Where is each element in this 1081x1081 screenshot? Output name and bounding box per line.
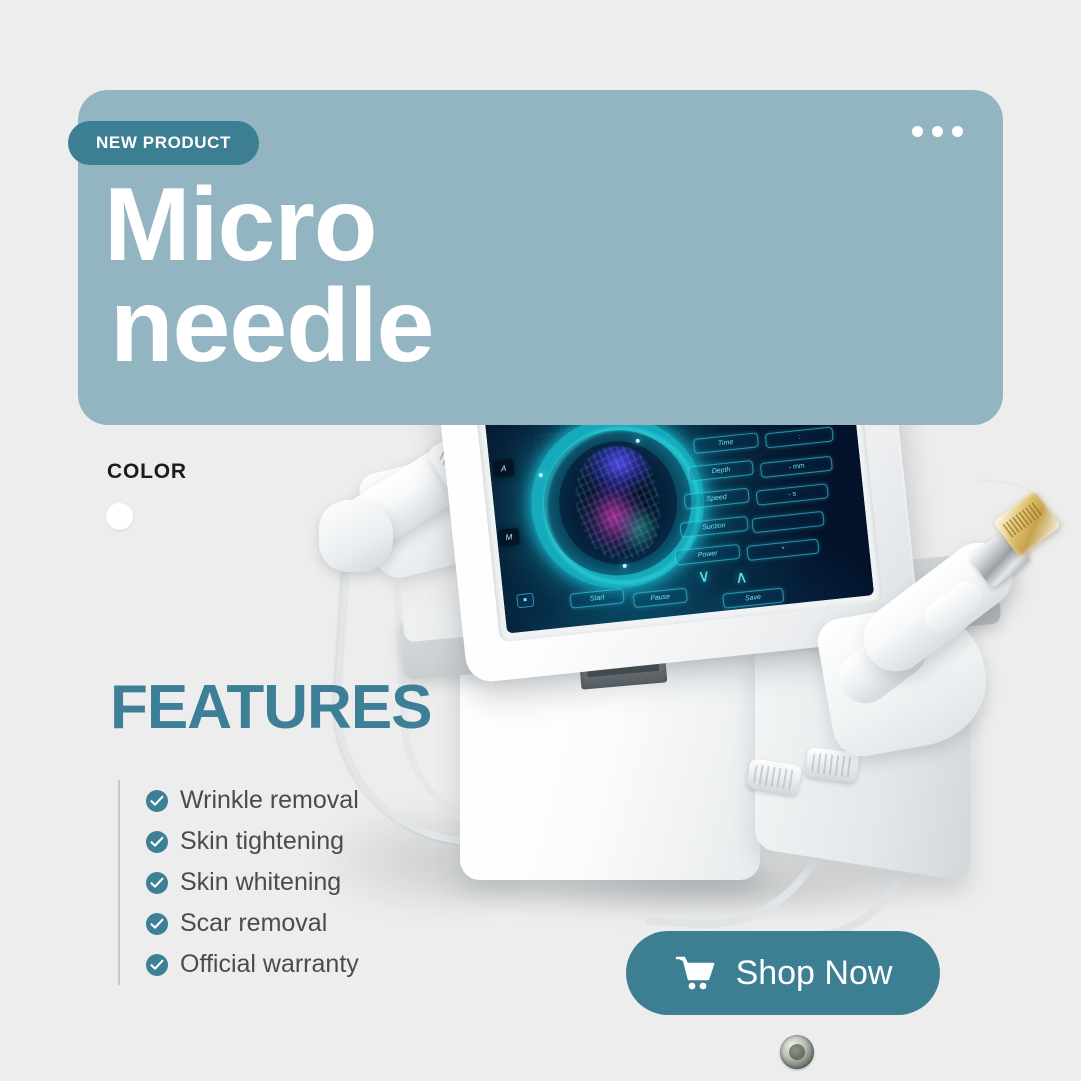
feature-label: Skin tightening [180,827,344,856]
check-circle-icon [146,872,168,894]
list-item: Wrinkle removal [146,780,359,821]
param-speed-number: - [788,491,791,498]
param-speed-unit: s [792,490,796,497]
list-item: Skin tightening [146,821,359,862]
param-label-speed[interactable]: Speed [684,488,750,510]
feature-label: Skin whitening [180,868,341,897]
param-label-depth[interactable]: Depth [688,460,754,482]
more-horizontal-icon[interactable] [912,126,963,137]
param-value-depth[interactable]: - mm [760,455,833,477]
pause-button[interactable]: Pause [633,587,688,608]
param-label-suction[interactable]: Suction [679,515,749,537]
page-title-line-2: needle [110,276,864,377]
sidebar-item-a[interactable]: A [493,459,515,478]
check-circle-icon [146,954,168,976]
feature-label: Wrinkle removal [180,786,359,815]
dot-3 [952,126,963,137]
dot-1 [912,126,923,137]
check-circle-icon [146,831,168,853]
handpiece-right [825,488,1045,778]
list-item: Scar removal [146,903,359,944]
color-swatch-white[interactable] [106,503,133,530]
feature-label: Official warranty [180,950,359,979]
device-connector-port [780,1035,814,1069]
shop-now-label: Shop Now [736,954,893,993]
shop-now-button[interactable]: Shop Now [626,931,940,1015]
handpiece-left-cradle [319,500,393,572]
param-value-time[interactable]: : [764,427,834,449]
shopping-cart-icon [674,955,716,991]
param-value-power[interactable]: * [747,539,820,561]
features-heading: FEATURES [110,672,432,743]
chevron-down-icon[interactable]: ∨ [697,567,711,585]
param-label-time[interactable]: Time [693,432,759,454]
dot-2 [932,126,943,137]
promo-banner: ◉ ■ Manual / Auto A M Times Time : Depth… [0,0,1081,1081]
power-icon[interactable]: ■ [516,593,534,609]
check-circle-icon [146,790,168,812]
new-product-badge-label: NEW PRODUCT [96,133,231,153]
start-button[interactable]: Start [570,588,625,609]
param-depth-number: - [788,464,791,471]
color-section-label: COLOR [107,460,187,484]
new-product-badge: NEW PRODUCT [68,121,259,165]
page-title-line-1: Micro [104,167,376,283]
sidebar-item-m[interactable]: M [498,528,520,547]
page-title: Micro needle [104,175,864,377]
check-circle-icon [146,913,168,935]
param-value-suction[interactable] [751,511,824,533]
list-item: Skin whitening [146,862,359,903]
param-depth-unit: mm [793,462,805,470]
features-list: Wrinkle removal Skin tightening Skin whi… [118,780,359,985]
feature-label: Scar removal [180,909,327,938]
param-label-power[interactable]: Power [675,544,741,566]
list-item: Official warranty [146,944,359,985]
chevron-up-icon[interactable]: ∧ [734,568,748,586]
param-value-speed[interactable]: - s [756,483,829,505]
